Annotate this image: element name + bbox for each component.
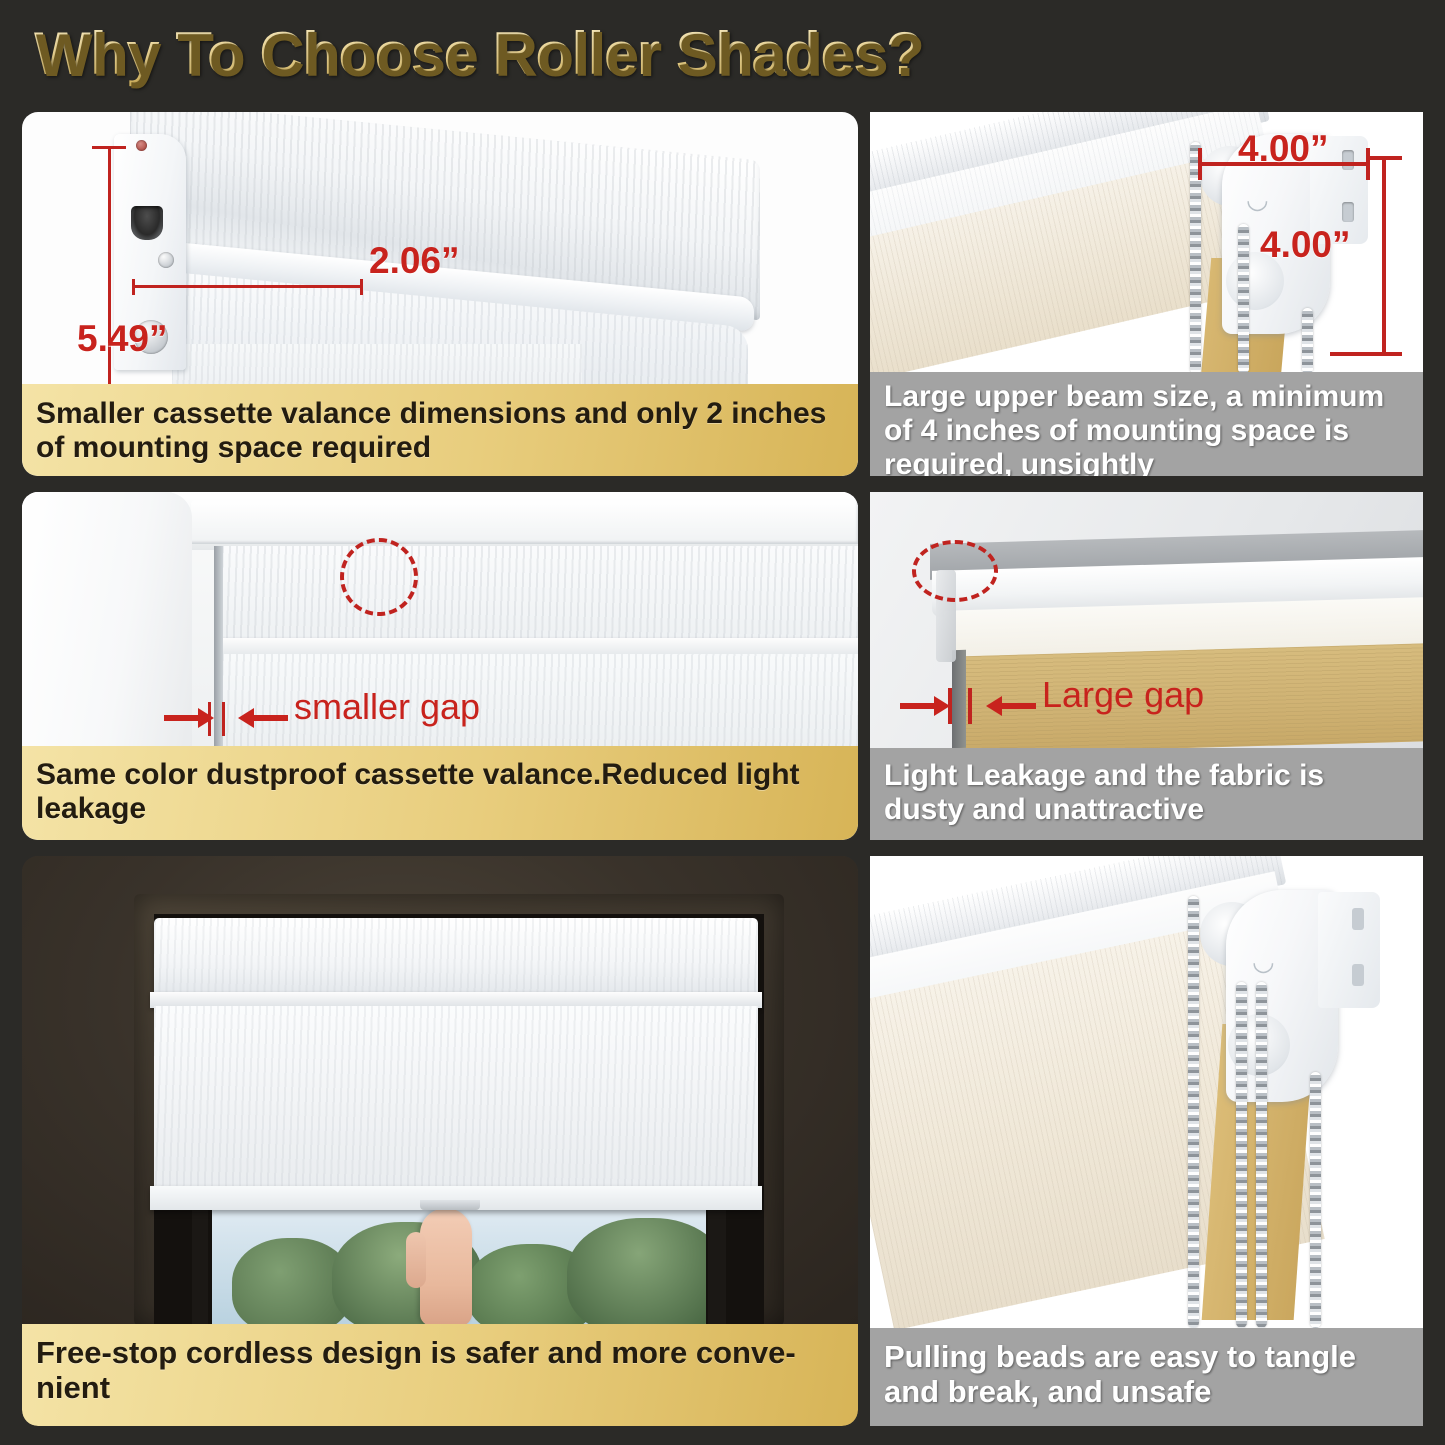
bead-chain: [1236, 982, 1247, 1328]
panel-good-3-caption: Free-stop cordless design is safer and m…: [22, 1324, 858, 1426]
bead-chain: [1238, 224, 1249, 374]
bead-chain: [1302, 308, 1313, 374]
panel-good-2-caption: Same color dustproof cassette valance.Re…: [22, 746, 858, 840]
highlight-circle-icon: [340, 538, 418, 616]
window-frame-inner-edge: [190, 500, 858, 544]
mount-hole: [1342, 150, 1354, 170]
screw-icon: [136, 140, 147, 151]
bead-chain: [1256, 982, 1267, 1328]
width-dimension-tick-left: [132, 279, 135, 295]
large-beam-roller-illustration: ◡ ◡ 4.00” 4.00”: [870, 112, 1423, 374]
panel-good-2: smaller gap Same color dustproof cassett…: [22, 492, 858, 840]
panel-bad-1: ◡ ◡ 4.00” 4.00”: [870, 112, 1423, 476]
beam-height-dimension-line: [1382, 156, 1386, 356]
gap-label: smaller gap: [294, 686, 480, 728]
bead-chain: [1310, 1072, 1321, 1328]
screw-icon: [158, 252, 174, 268]
panel-good-3: Free-stop cordless design is safer and m…: [22, 856, 858, 1426]
arrow-right-icon: [900, 692, 962, 722]
beam-height-label: 4.00”: [1260, 224, 1351, 266]
bracket-emblem-icon: ◡: [1252, 946, 1275, 977]
cassette-valance: [154, 918, 758, 996]
beam-width-label: 4.00”: [1238, 128, 1329, 170]
hand: [420, 1208, 472, 1326]
panel-good-1-caption: Smaller cassette valance dimensions and …: [22, 384, 858, 476]
width-dimension-label: 2.06”: [369, 240, 460, 282]
beam-height-tick-top: [1366, 156, 1402, 160]
arrow-right-icon: [164, 704, 224, 734]
highlight-circle-icon: [912, 540, 998, 602]
shade-fabric: [154, 1006, 758, 1194]
page-title: Why To Choose Roller Shades?: [34, 14, 1034, 94]
beam-width-tick-left: [1198, 148, 1202, 180]
panel-bad-3: ◡ ◡ Pulling beads are easy to tangle and…: [870, 856, 1423, 1426]
wall-scene: Large gap: [870, 492, 1423, 748]
height-dimension-label: 5.49”: [77, 318, 168, 360]
infographic-page: Why To Choose Roller Shades? 5.49”: [0, 0, 1445, 1445]
mount-hole: [1352, 908, 1364, 930]
bracket-mount-plate: [1318, 892, 1380, 1008]
bracket-emblem-icon: ◡: [1246, 184, 1269, 215]
panel-bad-3-caption: Pulling beads are easy to tangle and bre…: [870, 1328, 1423, 1426]
tree: [567, 1218, 706, 1326]
arrow-left-icon: [228, 704, 288, 734]
mount-hole: [1352, 964, 1364, 986]
gap-label: Large gap: [1042, 674, 1204, 716]
thumb: [406, 1232, 426, 1288]
shade-pull-tab: [420, 1200, 480, 1210]
window-sash-right: [708, 1208, 726, 1326]
cassette-valance-illustration: 5.49” 2.06”: [22, 112, 858, 384]
arrow-left-icon: [974, 692, 1036, 722]
panel-good-1: 5.49” 2.06” Smaller cassette valance dim…: [22, 112, 858, 476]
window-sash-left: [192, 1208, 208, 1326]
mount-hole: [1342, 202, 1354, 222]
window-frame-scene: smaller gap: [22, 492, 858, 746]
beam-width-tick-right: [1366, 148, 1370, 180]
chain-slot: [131, 206, 163, 240]
room-scene: [22, 856, 858, 1326]
shade-upper-panel: [222, 546, 858, 642]
bead-chain: [1188, 896, 1199, 1328]
panel-bad-1-caption: Large upper beam size, a minimum of 4 in…: [870, 372, 1423, 476]
panel-bad-2-caption: Light Leakage and the fabric is dusty an…: [870, 748, 1423, 840]
panel-bad-2: Large gap Light Leakage and the fabric i…: [870, 492, 1423, 840]
beam-height-tick-bottom: [1330, 352, 1402, 356]
width-dimension-tick-right: [360, 279, 363, 295]
bead-chain-roller-illustration: ◡ ◡: [870, 856, 1423, 1328]
width-dimension-line: [134, 285, 362, 288]
height-dimension-tick-top: [92, 146, 126, 149]
gap-marker-line: [968, 688, 972, 724]
